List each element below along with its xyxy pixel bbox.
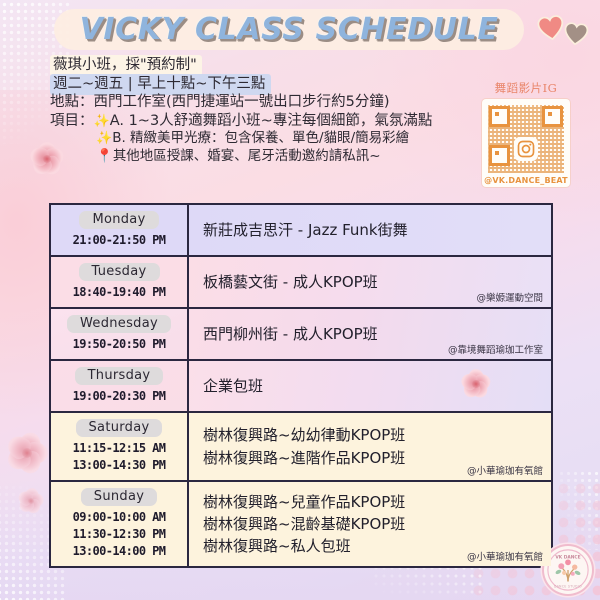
class-cell: 板橋藝文街 - 成人KPOP班 @樂嫄運動空間	[189, 257, 551, 307]
class-title: 樹林復興路~幼幼律動KPOP班	[203, 424, 541, 446]
time-list: 21:00-21:50 PM	[51, 232, 187, 249]
info-block: 薇琪小班，採"預約制" 週二~週五 | 早上十點~下午三點 地點：西門工作室(西…	[50, 58, 490, 167]
sakura-blossom-icon	[6, 432, 48, 474]
qr-finder-bottom-left	[489, 145, 510, 166]
info-service-b-text: B. 精緻美甲光療：包含保養、單色/貓眼/簡易彩繪	[112, 130, 409, 146]
heart-icon-primary	[536, 14, 565, 41]
time-slot: 19:00-20:30 PM	[51, 388, 187, 405]
sakura-blossom-icon	[18, 488, 44, 514]
svg-text:VK DANCE: VK DANCE	[555, 555, 580, 561]
time-slot: 19:50-20:50 PM	[51, 336, 187, 353]
time-slot: 21:00-21:50 PM	[51, 232, 187, 249]
class-title: 樹林復興路~兒童作品KPOP班	[203, 491, 541, 513]
table-row[interactable]: Monday 21:00-21:50 PM 新莊成吉思汗 - Jazz Funk…	[51, 205, 551, 257]
info-line-booking: 薇琪小班，採"預約制"	[50, 58, 490, 73]
svg-text:DANCE STUDIO: DANCE STUDIO	[554, 584, 582, 588]
venue-tag: @靠境舞蹈瑜珈工作室	[448, 342, 543, 356]
qr-code-image[interactable]: @VK.DANCE_BEAT	[482, 99, 570, 187]
info-line-hours: 週二~週五 | 早上十點~下午三點	[50, 77, 490, 92]
instagram-icon	[514, 137, 538, 161]
day-cell: Monday 21:00-21:50 PM	[51, 205, 189, 255]
class-title: 新莊成吉思汗 - Jazz Funk街舞	[203, 219, 541, 241]
venue-tag: @樂嫄運動空間	[476, 290, 543, 304]
class-cell: 西門柳州街 - 成人KPOP班 @靠境舞蹈瑜珈工作室	[189, 309, 551, 359]
day-label: Saturday	[76, 419, 163, 437]
class-title: 樹林復興路~混齡基礎KPOP班	[203, 513, 541, 535]
class-cell: 樹林復興路~兒童作品KPOP班 樹林復興路~混齡基礎KPOP班 樹林復興路~私人…	[189, 482, 551, 566]
day-label: Tuesday	[79, 263, 160, 281]
brand-logo: VK DANCE DANCE STUDIO	[544, 546, 592, 594]
instagram-qr-block[interactable]: 舞蹈影片IG @VK.DANCE_BEAT	[482, 80, 570, 187]
page-title: VICKY CLASS SCHEDULE	[54, 9, 524, 50]
day-cell: Saturday 11:15-12:15 AM 13:00-14:30 PM	[51, 413, 189, 480]
day-label: Monday	[79, 211, 158, 229]
time-slot: 13:00-14:00 PM	[51, 543, 187, 560]
info-line-services-b: ✨B. 精緻美甲光療：包含保養、單色/貓眼/簡易彩繪	[50, 132, 490, 146]
halftone-dots-right	[558, 470, 600, 550]
time-list: 11:15-12:15 AM 13:00-14:30 PM	[51, 440, 187, 474]
venue-tag: @小華瑜珈有氧館	[467, 549, 543, 563]
time-list: 19:50-20:50 PM	[51, 336, 187, 353]
table-row[interactable]: Sunday 09:00-10:00 AM 11:30-12:30 PM 13:…	[51, 482, 551, 566]
info-service-a-text: A. 1~3人舒適舞蹈小班~專注每個細節，氣氛滿點	[110, 113, 433, 129]
halftone-dots-bottom-center	[372, 564, 482, 598]
class-cell: 新莊成吉思汗 - Jazz Funk街舞	[189, 205, 551, 255]
qr-caption: 舞蹈影片IG	[482, 80, 570, 96]
instagram-handle: @VK.DANCE_BEAT	[482, 176, 570, 185]
table-row[interactable]: Tuesday 18:40-19:40 PM 板橋藝文街 - 成人KPOP班 @…	[51, 257, 551, 309]
class-cell: 企業包班	[189, 361, 551, 411]
info-line-location: 地點：西門工作室(西門捷運站一號出口步行約5分鐘)	[50, 95, 490, 110]
time-slot: 11:30-12:30 PM	[51, 526, 187, 543]
qr-finder-top-left	[489, 106, 510, 127]
table-row[interactable]: Thursday 19:00-20:30 PM 企業包班	[51, 361, 551, 413]
time-list: 19:00-20:30 PM	[51, 388, 187, 405]
schedule-table: Monday 21:00-21:50 PM 新莊成吉思汗 - Jazz Funk…	[49, 203, 553, 568]
time-slot: 09:00-10:00 AM	[51, 509, 187, 526]
qr-finder-top-right	[542, 106, 563, 127]
time-list: 18:40-19:40 PM	[51, 284, 187, 301]
location-pin-icon: 📍	[96, 148, 113, 164]
day-cell: Tuesday 18:40-19:40 PM	[51, 257, 189, 307]
class-cell: 樹林復興路~幼幼律動KPOP班 樹林復興路~進階作品KPOP班 @小華瑜珈有氧館	[189, 413, 551, 480]
table-row[interactable]: Wednesday 19:50-20:50 PM 西門柳州街 - 成人KPOP班…	[51, 309, 551, 361]
sparkle-icon: ✨	[96, 131, 112, 146]
day-cell: Sunday 09:00-10:00 AM 11:30-12:30 PM 13:…	[51, 482, 189, 566]
day-cell: Wednesday 19:50-20:50 PM	[51, 309, 189, 359]
time-slot: 11:15-12:15 AM	[51, 440, 187, 457]
info-line-other: 📍其他地區授課、婚宴、尾牙活動邀約請私訊~	[50, 150, 490, 164]
table-row[interactable]: Saturday 11:15-12:15 AM 13:00-14:30 PM 樹…	[51, 413, 551, 482]
info-booking-text: 薇琪小班，採"預約制"	[50, 55, 202, 76]
time-list: 09:00-10:00 AM 11:30-12:30 PM 13:00-14:0…	[51, 509, 187, 560]
day-cell: Thursday 19:00-20:30 PM	[51, 361, 189, 411]
day-label: Wednesday	[67, 315, 171, 333]
heart-icon-secondary	[563, 22, 589, 46]
sparkle-icon: ✨	[94, 114, 110, 129]
class-title: 企業包班	[203, 375, 541, 397]
time-slot: 13:00-14:30 PM	[51, 457, 187, 474]
venue-tag: @小華瑜珈有氧館	[467, 463, 543, 477]
info-line-services-a: 項目：✨A. 1~3人舒適舞蹈小班~專注每個細節，氣氛滿點	[50, 114, 490, 129]
day-label: Sunday	[81, 488, 157, 506]
info-other-text: 其他地區授課、婚宴、尾牙活動邀約請私訊~	[113, 148, 381, 164]
day-label: Thursday	[75, 367, 164, 385]
time-slot: 18:40-19:40 PM	[51, 284, 187, 301]
poster-canvas: VICKY CLASS SCHEDULE 薇琪小班，採"預約制" 週二~週五 |…	[0, 0, 600, 600]
info-hours-text: 週二~週五 | 早上十點~下午三點	[50, 74, 271, 95]
info-services-prefix: 項目：	[50, 113, 94, 129]
